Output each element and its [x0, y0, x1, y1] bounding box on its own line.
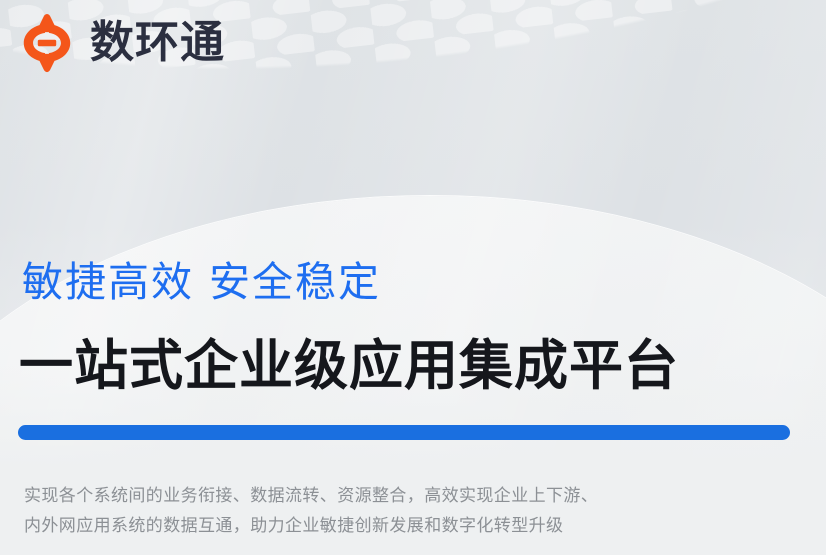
hero-description-line-1: 实现各个系统间的业务衔接、数据流转、资源整合，高效实现企业上下游、	[24, 481, 704, 511]
accent-bar	[18, 425, 790, 440]
brand-name: 数环通	[90, 21, 225, 65]
circular-swap-arrows-icon	[16, 12, 78, 74]
hero-headline: 一站式企业级应用集成平台	[19, 337, 679, 394]
brand-logo[interactable]: 数环通	[16, 12, 225, 74]
hero-banner: 数环通 敏捷高效 安全稳定 一站式企业级应用集成平台 实现各个系统间的业务衔接、…	[0, 0, 826, 555]
hero-subtitle: 敏捷高效 安全稳定	[22, 262, 381, 303]
hero-description: 实现各个系统间的业务衔接、数据流转、资源整合，高效实现企业上下游、 内外网应用系…	[24, 481, 704, 541]
hero-description-line-2: 内外网应用系统的数据互通，助力企业敏捷创新发展和数字化转型升级	[24, 511, 704, 541]
